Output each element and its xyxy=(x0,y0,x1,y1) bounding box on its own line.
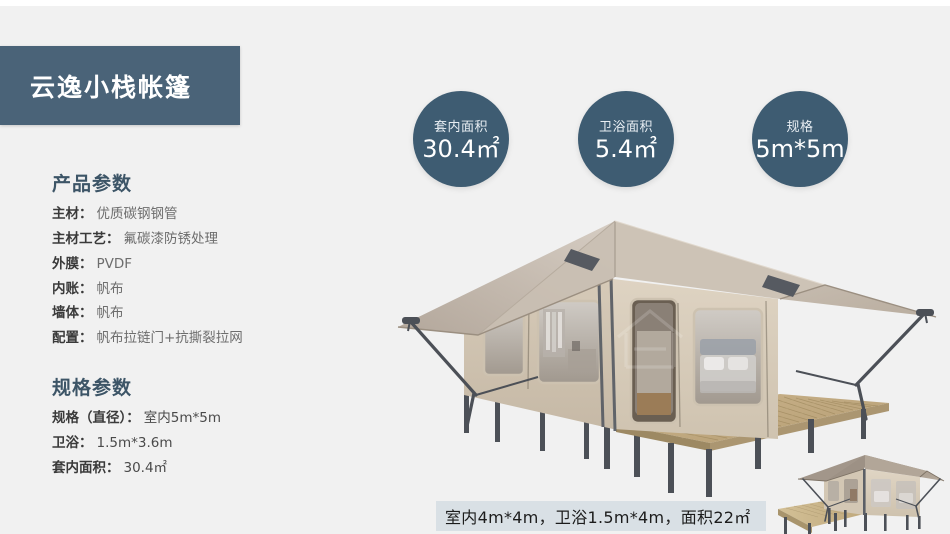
stat-badge-dimensions: 规格 5m*5m xyxy=(752,91,848,187)
param-label: 外膜： xyxy=(52,257,93,272)
product-params-heading: 产品参数 xyxy=(52,169,243,196)
param-row: 墙体： 帆布 xyxy=(52,306,243,321)
param-value: 帆布 xyxy=(97,282,124,297)
param-row: 规格（直径）： 室内5m*5m xyxy=(52,411,221,426)
stat-badge-value: 30.4㎡ xyxy=(422,136,499,162)
stat-badge-label: 套内面积 xyxy=(434,116,488,135)
stat-badge-label: 卫浴面积 xyxy=(599,116,653,135)
param-label: 卫浴： xyxy=(52,436,93,451)
param-label: 套内面积： xyxy=(52,461,120,476)
caption-bar: 室内4m*4m，卫浴1.5m*4m，面积22㎡ xyxy=(436,501,766,531)
param-label: 主材工艺： xyxy=(52,232,120,247)
param-value: 优质碳钢钢管 xyxy=(97,207,178,222)
param-row: 卫浴： 1.5m*3.6m xyxy=(52,436,221,451)
param-row: 配置： 帆布拉链门+抗撕裂拉网 xyxy=(52,331,243,346)
param-label: 墙体： xyxy=(52,306,93,321)
size-params-block: 规格参数 规格（直径）： 室内5m*5m 卫浴： 1.5m*3.6m 套内面积：… xyxy=(52,373,221,486)
caption-text: 室内4m*4m，卫浴1.5m*4m，面积22㎡ xyxy=(445,504,751,528)
stat-badge-value: 5m*5m xyxy=(755,136,844,162)
param-value: 帆布拉链门+抗撕裂拉网 xyxy=(97,331,243,346)
param-value: 帆布 xyxy=(97,306,124,321)
param-label: 配置： xyxy=(52,331,93,346)
stat-badge-label: 规格 xyxy=(786,116,813,135)
stat-badge-bathroom-area: 卫浴面积 5.4㎡ xyxy=(578,91,674,187)
param-label: 内账： xyxy=(52,282,93,297)
param-row: 主材： 优质碳钢钢管 xyxy=(52,207,243,222)
param-value: 1.5m*3.6m xyxy=(97,436,173,451)
param-row: 主材工艺： 氟碳漆防锈处理 xyxy=(52,232,243,247)
product-params-block: 产品参数 主材： 优质碳钢钢管 主材工艺： 氟碳漆防锈处理 外膜： PVDF 内… xyxy=(52,169,243,356)
title-banner: 云逸小栈帐篷 xyxy=(0,46,240,125)
param-row: 内账： 帆布 xyxy=(52,282,243,297)
stat-badge-interior-area: 套内面积 30.4㎡ xyxy=(413,91,509,187)
param-label: 主材： xyxy=(52,207,93,222)
stat-badge-value: 5.4㎡ xyxy=(595,136,657,162)
tent-illustration-thumbnail xyxy=(772,451,950,534)
param-label: 规格（直径）： xyxy=(52,411,140,426)
slide-canvas: 云逸小栈帐篷 产品参数 主材： 优质碳钢钢管 主材工艺： 氟碳漆防锈处理 外膜：… xyxy=(0,0,950,534)
size-params-heading: 规格参数 xyxy=(52,373,221,400)
param-value: PVDF xyxy=(97,257,133,272)
param-row: 外膜： PVDF xyxy=(52,257,243,272)
param-row: 套内面积： 30.4㎡ xyxy=(52,461,221,476)
page-title: 云逸小栈帐篷 xyxy=(30,68,192,104)
param-value: 氟碳漆防锈处理 xyxy=(124,232,219,247)
param-value: 30.4㎡ xyxy=(124,461,168,476)
param-value: 室内5m*5m xyxy=(144,411,221,426)
